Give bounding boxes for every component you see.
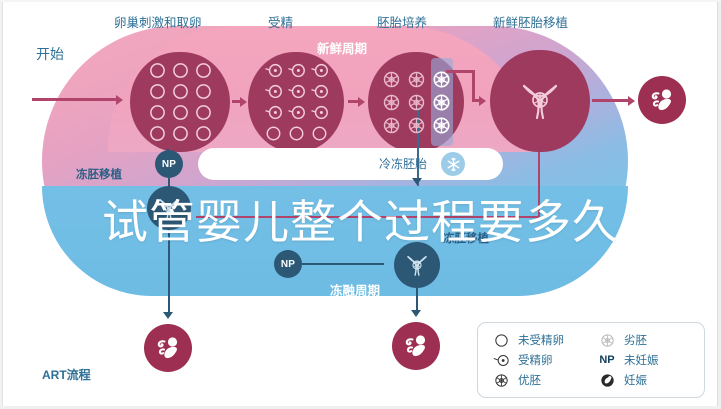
unfertilized-egg-icon <box>149 104 166 121</box>
fresh-transfer-branch-line <box>538 152 540 218</box>
legend-item-not-pregnant: NP 未妊娠 <box>598 350 694 370</box>
legend-label: 未妊娠 <box>624 352 659 368</box>
poor-embryo-icon <box>407 70 426 89</box>
stage-circle-fertilization[interactable] <box>248 52 344 152</box>
fet-left-line-down <box>168 230 170 316</box>
poor-embryo-icon <box>407 93 426 112</box>
pregnancy-outcome-fet-right[interactable] <box>392 322 440 370</box>
good-embryo-icon <box>432 93 451 112</box>
poor-embryo-icon <box>407 116 426 135</box>
uterus-icon <box>402 250 432 280</box>
baby-icon <box>646 84 678 116</box>
fertilized-egg-icon <box>311 62 328 79</box>
good-embryo-icon <box>432 116 451 135</box>
fertilized-egg-icon <box>265 83 282 100</box>
stage-circle-fresh-transfer[interactable] <box>490 50 590 152</box>
art-flow-label: ART流程 <box>42 366 91 383</box>
legend-panel: 未受精卵 受精卵 优胚 <box>477 322 705 398</box>
legend-label: 劣胚 <box>624 332 647 348</box>
np-icon: NP <box>598 351 616 369</box>
unfertilized-egg-icon <box>149 83 166 100</box>
connector-freeze-arrow <box>412 178 422 185</box>
connector-arrow-pregnancy <box>628 96 635 106</box>
start-label: 开始 <box>36 44 64 64</box>
stage-label-fertilization: 受精 <box>268 12 293 31</box>
fet-uterus-right[interactable] <box>394 242 440 288</box>
unfertilized-egg-icon <box>149 62 166 79</box>
frozen-embryo-label: 冷冻胚胎 <box>379 155 427 172</box>
poor-embryo-icon <box>598 331 616 349</box>
legend-item-unfertilized-egg: 未受精卵 <box>492 330 588 350</box>
unfertilized-egg-icon <box>195 104 212 121</box>
thaw-horizontal-line <box>302 263 384 265</box>
uterus-icon <box>154 193 184 223</box>
good-embryo-icon <box>432 70 451 89</box>
connector-arrow-1 <box>240 97 247 107</box>
fertilized-egg-grid <box>265 62 328 142</box>
fet-label-right: 冻胚移植 <box>443 230 489 246</box>
fertilized-egg-icon <box>288 62 305 79</box>
fertilized-egg-icon <box>288 104 305 121</box>
fertilized-egg-icon <box>492 351 510 369</box>
fertilized-egg-icon <box>288 83 305 100</box>
frame-edge-top <box>0 0 721 2</box>
snowflake-badge[interactable] <box>441 152 465 176</box>
unfertilized-egg-icon <box>288 125 305 142</box>
frozen-embryo-bar[interactable]: 冷冻胚胎 <box>198 148 503 180</box>
unfertilized-egg-icon <box>492 331 510 349</box>
snowflake-icon <box>446 157 461 172</box>
frame-edge-left <box>0 0 3 409</box>
legend-item-fertilized-egg: 受精卵 <box>492 350 588 370</box>
np-badge-bottom[interactable]: NP <box>274 250 302 278</box>
stage-circle-embryo-culture[interactable] <box>368 52 464 152</box>
thaw-down-arrow <box>411 310 421 317</box>
fertilized-egg-icon <box>265 104 282 121</box>
thaw-cycle-label: 冻融周期 <box>330 280 380 299</box>
legend-label: 优胚 <box>518 372 541 388</box>
poor-embryo-icon <box>382 116 401 135</box>
connector-arrow-2 <box>358 97 365 107</box>
unfertilized-egg-icon <box>172 62 189 79</box>
stage-label-embryo-culture: 胚胎培养 <box>377 12 427 31</box>
fresh-cycle-label: 新鲜周期 <box>317 38 367 57</box>
unfertilized-egg-icon <box>172 125 189 142</box>
stage-label-fresh-transfer: 新鲜胚胎移植 <box>493 12 568 31</box>
legend-label: 未受精卵 <box>518 332 564 348</box>
fet-left-arrow-down <box>163 312 173 319</box>
legend-column-left: 未受精卵 受精卵 优胚 <box>492 330 588 390</box>
start-arrow-head <box>116 95 123 105</box>
poor-embryo-icon <box>382 93 401 112</box>
baby-icon <box>400 330 432 362</box>
legend-item-good-embryo: 优胚 <box>492 370 588 390</box>
fet-label-left: 冻胚移植 <box>76 166 122 182</box>
fet-uterus-left[interactable] <box>147 186 191 230</box>
unfertilized-egg-icon <box>195 83 212 100</box>
stage-circle-ovarian-stimulation[interactable] <box>130 52 230 152</box>
ivf-process-diagram: 卵巢刺激和取卵 受精 胚胎培养 新鲜胚胎移植 新鲜周期 开始 <box>0 0 721 409</box>
poor-embryo-icon <box>382 70 401 89</box>
unfertilized-egg-grid <box>149 62 212 142</box>
unfertilized-egg-icon <box>172 83 189 100</box>
unfertilized-egg-icon <box>149 125 166 142</box>
legend-item-pregnancy: 妊娠 <box>598 370 694 390</box>
good-embryo-icon <box>492 371 510 389</box>
baby-icon <box>152 332 184 364</box>
frame-edge-right <box>717 0 721 409</box>
fresh-transfer-horizontal <box>196 216 540 218</box>
connector-elbow-vertical <box>472 70 475 100</box>
stage-label-ovarian-stimulation: 卵巢刺激和取卵 <box>114 12 202 31</box>
unfertilized-egg-icon <box>265 125 282 142</box>
uterus-icon <box>513 74 567 128</box>
connector-line-pregnancy <box>592 99 632 102</box>
np-badge-left[interactable]: NP <box>155 150 183 178</box>
pregnancy-outcome-fet-left[interactable] <box>144 324 192 372</box>
fertilized-egg-icon <box>311 104 328 121</box>
pregnancy-icon <box>598 371 616 389</box>
legend-column-right: 劣胚 NP 未妊娠 妊娠 <box>598 330 694 390</box>
fertilized-egg-icon <box>265 62 282 79</box>
legend-label: 妊娠 <box>624 372 647 388</box>
unfertilized-egg-icon <box>172 104 189 121</box>
unfertilized-egg-icon <box>311 125 328 142</box>
pregnancy-outcome-fresh[interactable] <box>638 76 686 124</box>
legend-label: 受精卵 <box>518 352 553 368</box>
unfertilized-egg-icon <box>195 62 212 79</box>
legend-item-poor-embryo: 劣胚 <box>598 330 694 350</box>
start-arrow-line <box>32 98 118 101</box>
fertilized-egg-icon <box>311 83 328 100</box>
unfertilized-egg-icon <box>195 125 212 142</box>
embryo-grid <box>382 70 451 135</box>
connector-arrow-3 <box>479 96 486 106</box>
